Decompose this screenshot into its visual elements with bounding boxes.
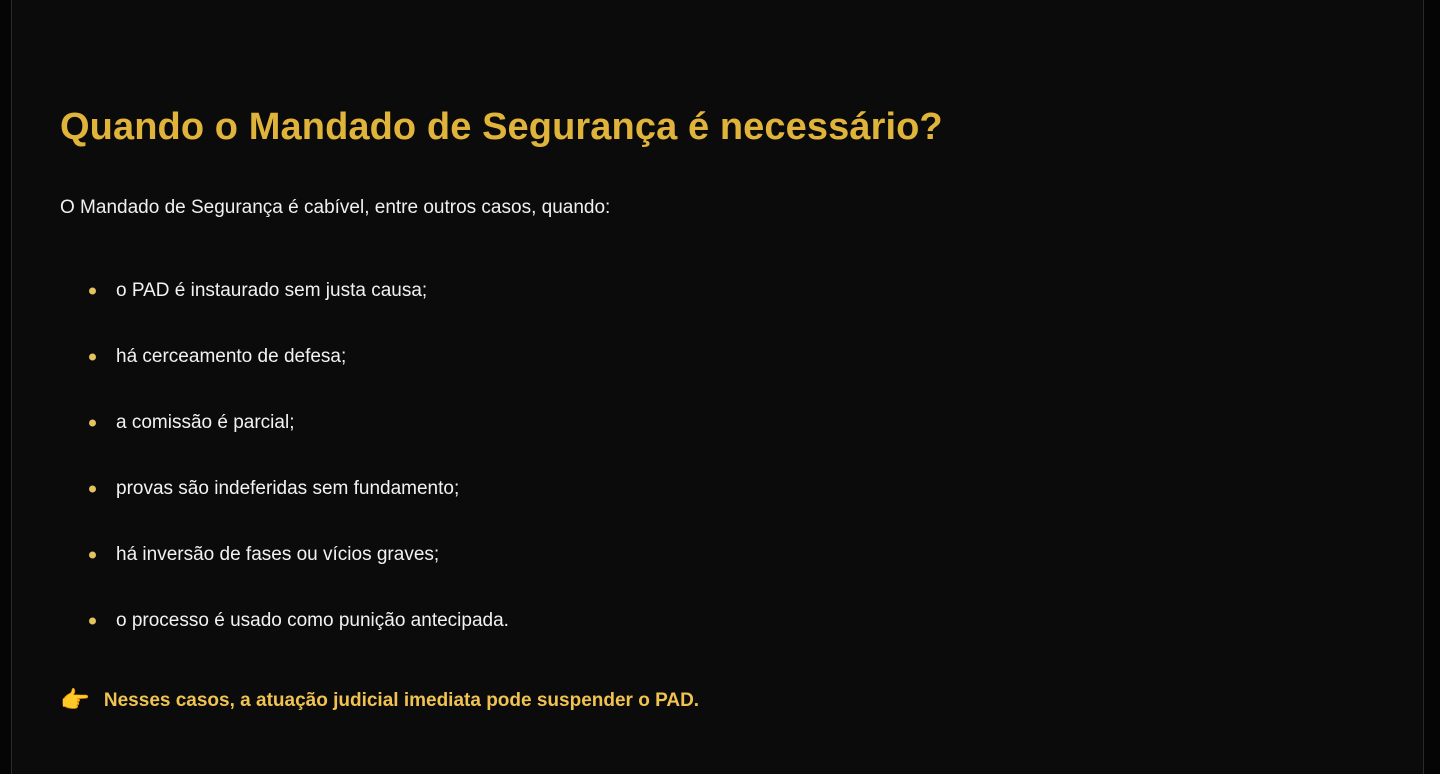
slide-content: Quando o Mandado de Segurança é necessár… bbox=[12, 0, 1423, 774]
list-item: o PAD é instaurado sem justa causa; bbox=[60, 258, 509, 324]
pointing-right-hand-icon: 👉 bbox=[60, 686, 90, 716]
list-item: a comissão é parcial; bbox=[60, 390, 509, 456]
slide-title: Quando o Mandado de Segurança é necessár… bbox=[60, 101, 943, 153]
callout-note: 👉 Nesses casos, a atuação judicial imedi… bbox=[60, 686, 699, 716]
list-item: há inversão de fases ou vícios graves; bbox=[60, 522, 509, 588]
list-item: provas são indeferidas sem fundamento; bbox=[60, 456, 509, 522]
list-item-label: provas são indeferidas sem fundamento; bbox=[116, 476, 459, 502]
callout-label: Nesses casos, a atuação judicial imediat… bbox=[104, 686, 699, 716]
right-frame-line bbox=[1423, 0, 1424, 774]
bullet-dot-icon bbox=[89, 420, 96, 427]
bullet-dot-icon bbox=[89, 486, 96, 493]
list-item-label: a comissão é parcial; bbox=[116, 410, 294, 436]
bullet-dot-icon bbox=[89, 618, 96, 625]
list-item-label: o processo é usado como punição antecipa… bbox=[116, 608, 509, 634]
list-item-label: há inversão de fases ou vícios graves; bbox=[116, 542, 439, 568]
intro-paragraph: O Mandado de Segurança é cabível, entre … bbox=[60, 193, 610, 223]
list-item: há cerceamento de defesa; bbox=[60, 324, 509, 390]
right-gutter bbox=[1424, 0, 1440, 774]
left-gutter bbox=[0, 0, 11, 774]
bullet-dot-icon bbox=[89, 552, 96, 559]
list-item-label: o PAD é instaurado sem justa causa; bbox=[116, 278, 427, 304]
slide-canvas: Quando o Mandado de Segurança é necessár… bbox=[0, 0, 1440, 774]
bullet-dot-icon bbox=[89, 288, 96, 295]
bullet-dot-icon bbox=[89, 354, 96, 361]
conditions-list: o PAD é instaurado sem justa causa; há c… bbox=[60, 258, 509, 654]
list-item: o processo é usado como punição antecipa… bbox=[60, 588, 509, 654]
list-item-label: há cerceamento de defesa; bbox=[116, 344, 346, 370]
